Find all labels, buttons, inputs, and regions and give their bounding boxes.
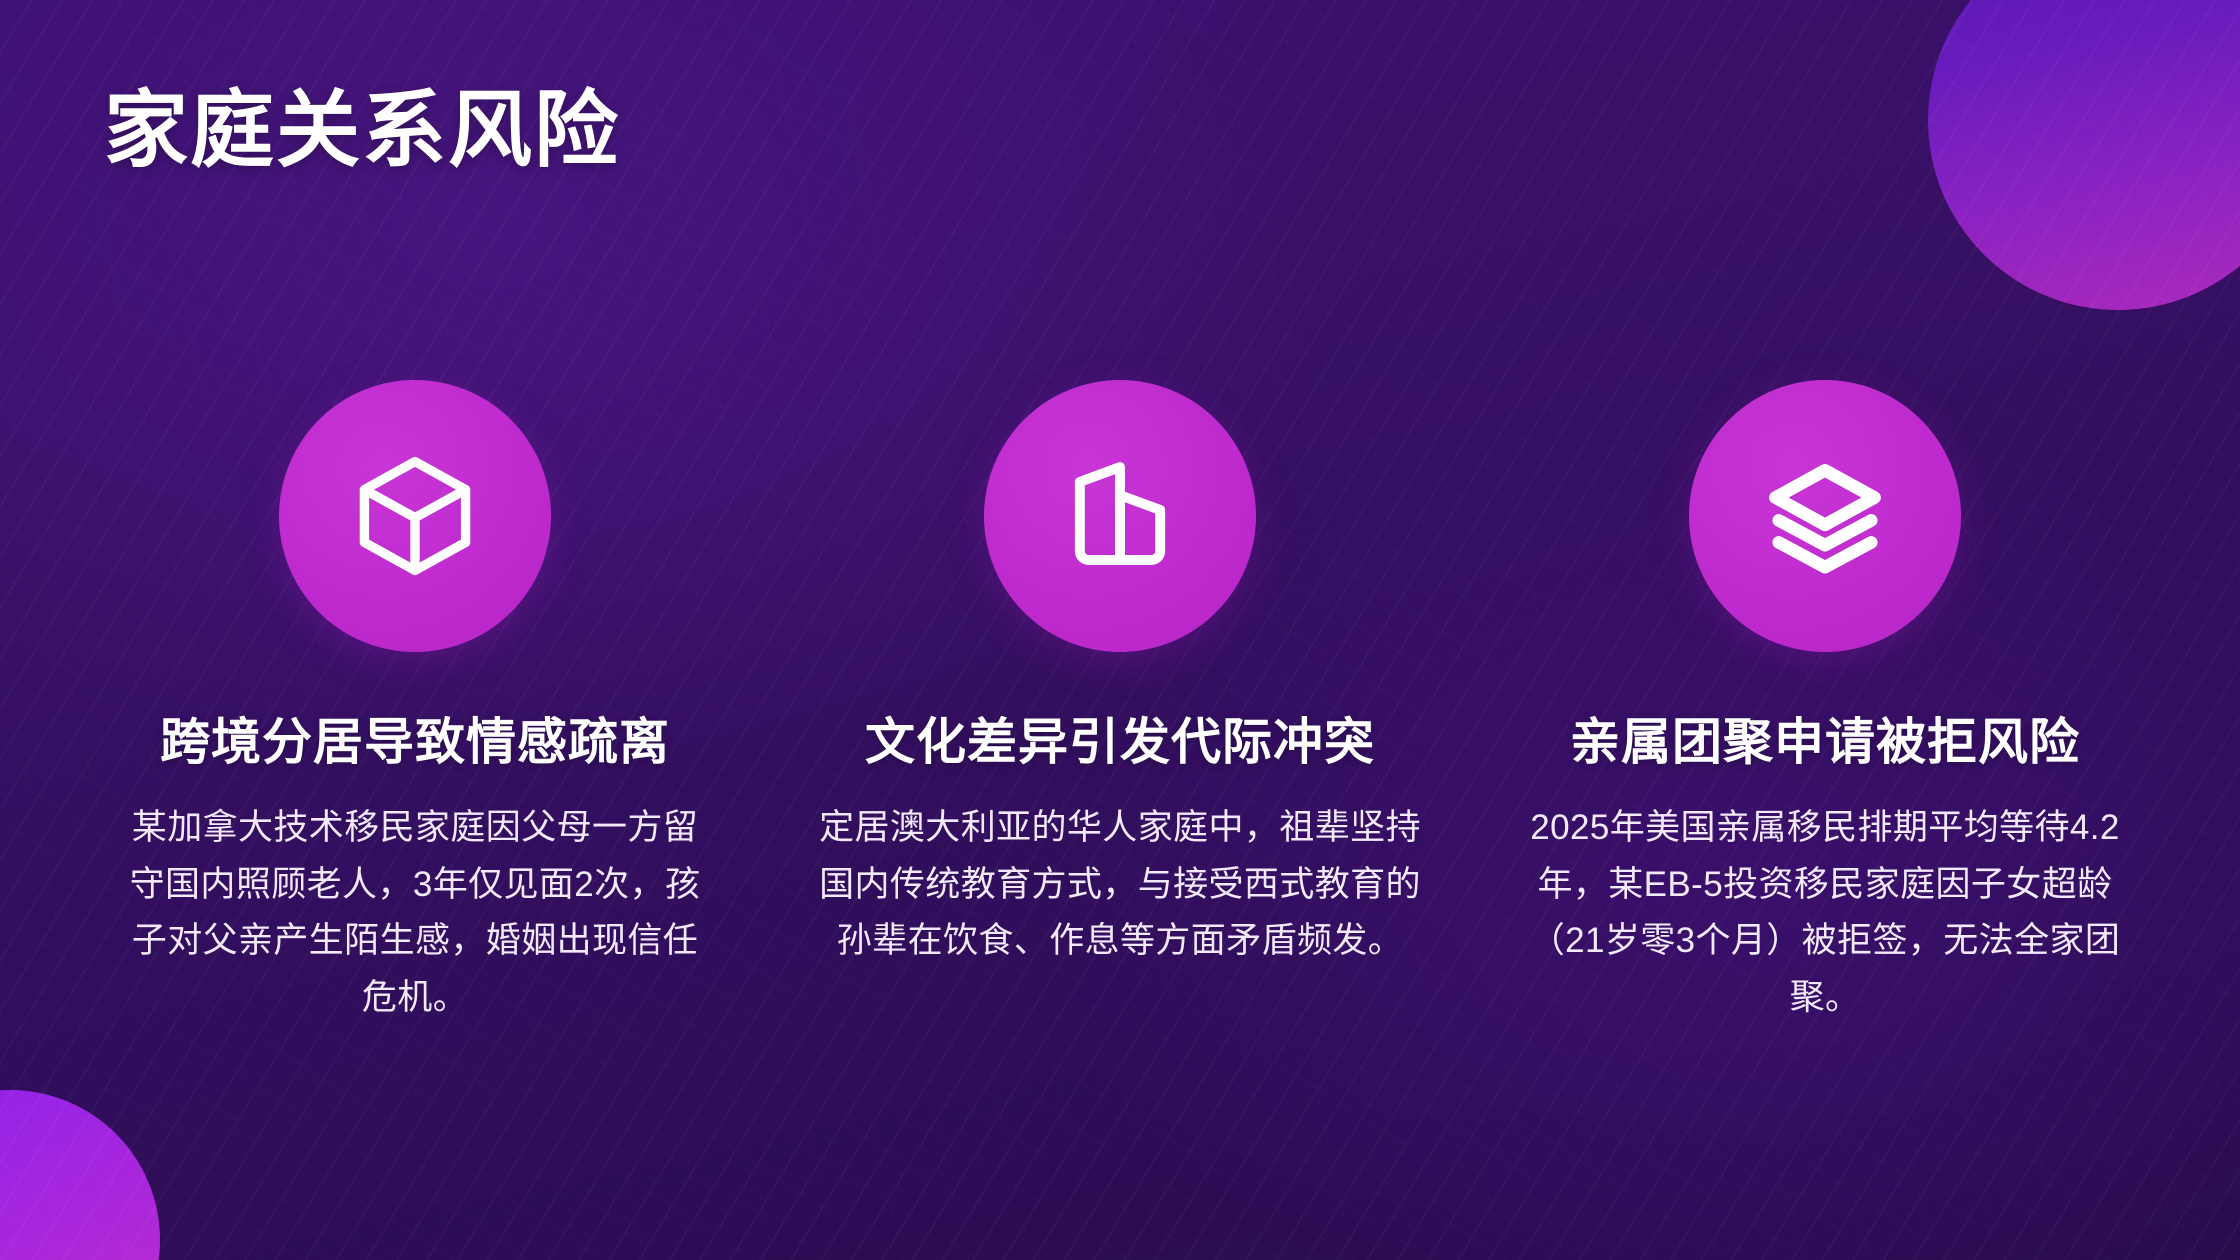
top-right-circle-decoration bbox=[1928, 0, 2240, 310]
risk-card-3-title: 亲属团聚申请被拒风险 bbox=[1570, 712, 2080, 772]
icon-badge-1 bbox=[279, 380, 551, 652]
risk-card-2: 文化差异引发代际冲突 定居澳大利亚的华人家庭中，祖辈坚持国内传统教育方式，与接受… bbox=[805, 380, 1435, 1027]
cube-icon bbox=[349, 450, 481, 582]
risk-card-1: 跨境分居导致情感疏离 某加拿大技术移民家庭因父母一方留守国内照顾老人，3年仅见面… bbox=[100, 380, 730, 1027]
layers-icon bbox=[1759, 450, 1891, 582]
icon-badge-2 bbox=[984, 380, 1256, 652]
icon-badge-3 bbox=[1689, 380, 1961, 652]
page-title: 家庭关系风险 bbox=[104, 86, 620, 175]
bottom-left-circle-decoration bbox=[0, 1090, 160, 1260]
risk-card-3: 亲属团聚申请被拒风险 2025年美国亲属移民排期平均等待4.2年，某EB-5投资… bbox=[1510, 380, 2140, 1027]
risk-card-2-description: 定居澳大利亚的华人家庭中，祖辈坚持国内传统教育方式，与接受西式教育的孙辈在饮食、… bbox=[814, 800, 1426, 970]
risk-card-1-description: 某加拿大技术移民家庭因父母一方留守国内照顾老人，3年仅见面2次，孩子对父亲产生陌… bbox=[115, 800, 715, 1027]
slide-root: 家庭关系风险 跨境分居导致情感疏离 某加拿大技术移民家庭因父母一方留守国内照顾老… bbox=[0, 0, 2240, 1260]
buildings-icon bbox=[1054, 450, 1186, 582]
risk-card-1-title: 跨境分居导致情感疏离 bbox=[160, 712, 670, 772]
risk-card-3-description: 2025年美国亲属移民排期平均等待4.2年，某EB-5投资移民家庭因子女超龄（2… bbox=[1525, 800, 2125, 1027]
cards-row: 跨境分居导致情感疏离 某加拿大技术移民家庭因父母一方留守国内照顾老人，3年仅见面… bbox=[0, 380, 2240, 1027]
risk-card-2-title: 文化差异引发代际冲突 bbox=[865, 712, 1375, 772]
